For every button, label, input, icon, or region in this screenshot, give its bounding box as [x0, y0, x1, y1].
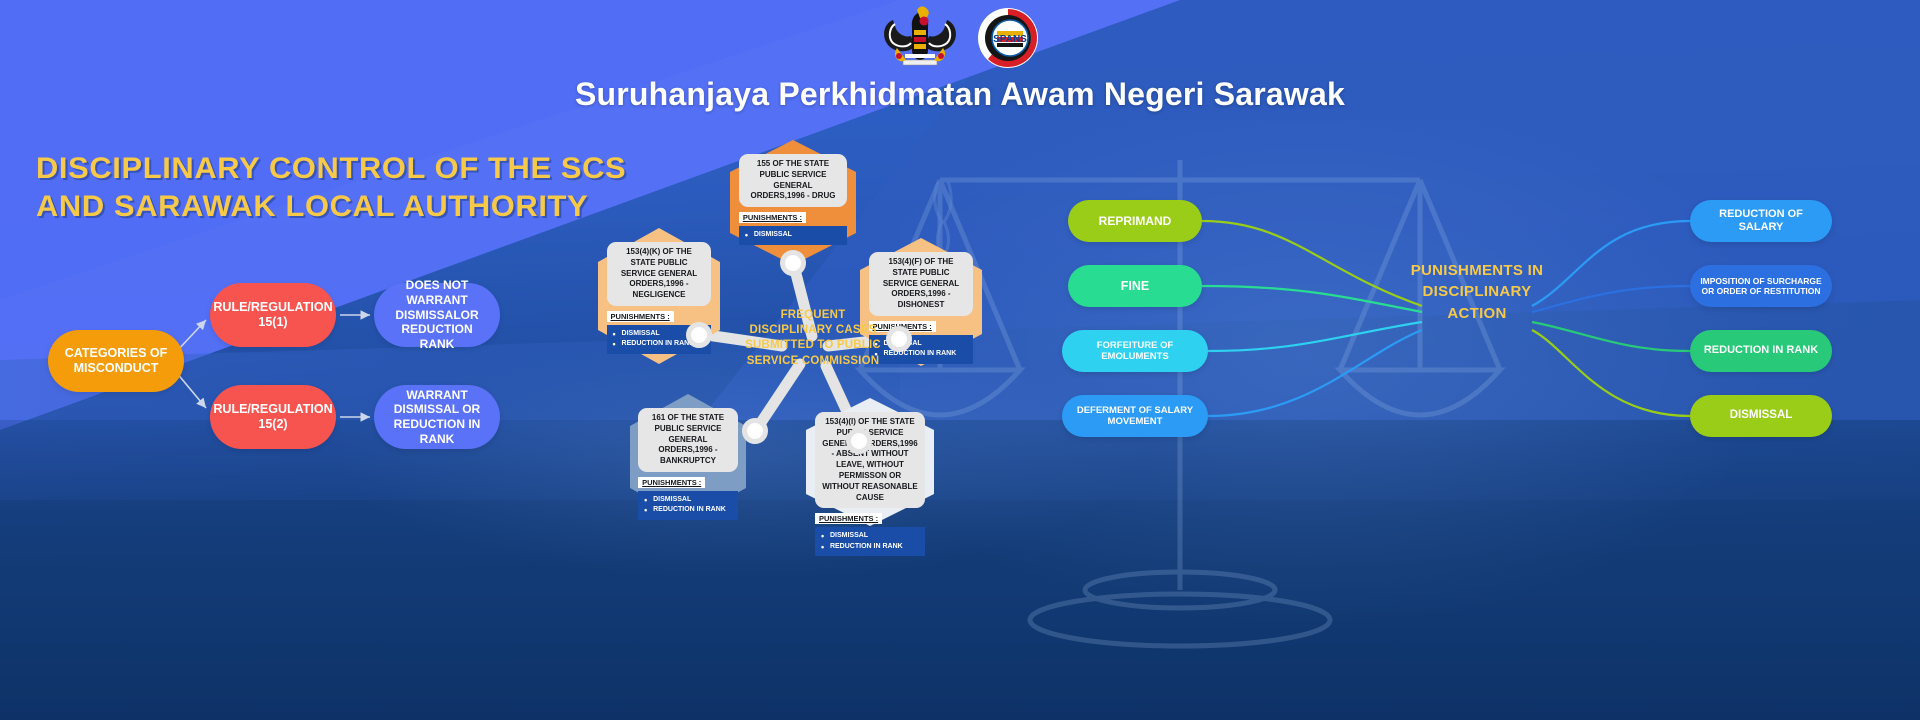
punishment-item: REDUCTION IN RANK: [873, 349, 969, 360]
misconduct-flowchart: CATEGORIES OF MISCONDUCT RULE/REGULATION…: [0, 280, 560, 480]
hex-label: 153(4)(F) OF THE STATE PUBLIC SERVICE GE…: [869, 252, 974, 316]
sarawak-coat-of-arms-icon: [881, 4, 959, 72]
page-header: SPANS Suruhanjaya Perkhidmatan Awam Nege…: [0, 0, 1920, 135]
punishment-dismissal[interactable]: DISMISSAL: [1690, 395, 1832, 437]
punishment-item: DISMISSAL: [743, 230, 842, 241]
punishment-forfeiture-of-emoluments[interactable]: FORFEITURE OF EMOLUMENTS: [1062, 330, 1208, 372]
hex-label: 153(4)(K) OF THE STATE PUBLIC SERVICE GE…: [607, 242, 712, 306]
hex-label: 155 OF THE STATE PUBLIC SERVICE GENERAL …: [739, 154, 847, 207]
punishments-list: DISMISSAL REDUCTION IN RANK: [815, 527, 925, 556]
punishment-imposition-of-surcharge[interactable]: IMPOSITION OF SURCHARGE OR ORDER OF REST…: [1690, 265, 1832, 307]
punishments-center-label: PUNISHMENTS IN DISCIPLINARY ACTION: [1392, 260, 1562, 324]
punishments-list: DISMISSAL REDUCTION IN RANK: [869, 335, 974, 364]
punishments-heading: PUNISHMENTS :: [815, 513, 882, 524]
network-dot: [846, 428, 872, 454]
punishment-reduction-in-rank[interactable]: REDUCTION IN RANK: [1690, 330, 1832, 372]
node-outcome-warrant-dismissal[interactable]: WARRANT DISMISSAL OR REDUCTION IN RANK: [374, 385, 500, 449]
hex-label: 153(4)(I) OF THE STATE PUBLIC SERVICE GE…: [815, 412, 925, 508]
section-headline: Disciplinary Control of the SCS and Sara…: [36, 150, 676, 226]
punishments-heading: PUNISHMENTS :: [638, 477, 705, 488]
hex-label: 161 OF THE STATE PUBLIC SERVICE GENERAL …: [638, 408, 738, 472]
headline-line-2: and Sarawak Local Authority: [36, 188, 695, 226]
network-center-label: FREQUENT DISCIPLINARY CASES SUBMITTED TO…: [744, 308, 882, 369]
punishment-item: DISMISSAL: [642, 495, 733, 506]
punishment-item: REDUCTION IN RANK: [819, 542, 920, 553]
node-outcome-no-dismissal[interactable]: DOES NOT WARRANT DISMISSALOR REDUCTION R…: [374, 283, 500, 347]
network-dot: [742, 418, 768, 444]
svg-text:SPANS: SPANS: [993, 34, 1027, 45]
punishment-item: REDUCTION IN RANK: [642, 505, 733, 516]
network-dot: [686, 322, 712, 348]
punishments-heading: PUNISHMENTS :: [739, 212, 806, 223]
infographic-canvas: SPANS Suruhanjaya Perkhidmatan Awam Nege…: [0, 0, 1920, 720]
spans-logo-icon: SPANS: [977, 7, 1039, 69]
node-categories-of-misconduct[interactable]: CATEGORIES OF MISCONDUCT: [48, 330, 184, 392]
hex-node-drug[interactable]: 155 OF THE STATE PUBLIC SERVICE GENERAL …: [730, 140, 856, 265]
punishments-list: DISMISSAL: [739, 226, 847, 245]
logo-group: SPANS: [881, 4, 1039, 72]
hex-node-bankruptcy[interactable]: 161 OF THE STATE PUBLIC SERVICE GENERAL …: [630, 394, 746, 520]
punishment-item: DISMISSAL: [819, 531, 920, 542]
punishment-reprimand[interactable]: REPRIMAND: [1068, 200, 1202, 242]
punishment-reduction-of-salary[interactable]: REDUCTION OF SALARY: [1690, 200, 1832, 242]
network-dot: [886, 326, 912, 352]
punishments-heading: PUNISHMENTS :: [607, 311, 674, 322]
punishments-list: DISMISSAL REDUCTION IN RANK: [638, 491, 738, 520]
headline-line-1: Disciplinary Control of the SCS: [36, 150, 695, 188]
punishments-map: REPRIMAND FINE FORFEITURE OF EMOLUMENTS …: [1040, 180, 1920, 470]
punishment-fine[interactable]: FINE: [1068, 265, 1202, 307]
hex-node-absent-without-leave[interactable]: 153(4)(I) OF THE STATE PUBLIC SERVICE GE…: [806, 398, 934, 526]
page-title: Suruhanjaya Perkhidmatan Awam Negeri Sar…: [0, 76, 1920, 113]
network-dot: [780, 250, 806, 276]
node-rule-15-1[interactable]: RULE/REGULATION 15(1): [210, 283, 336, 347]
punishment-deferment-of-salary-movement[interactable]: DEFERMENT OF SALARY MOVEMENT: [1062, 395, 1208, 437]
node-rule-15-2[interactable]: RULE/REGULATION 15(2): [210, 385, 336, 449]
